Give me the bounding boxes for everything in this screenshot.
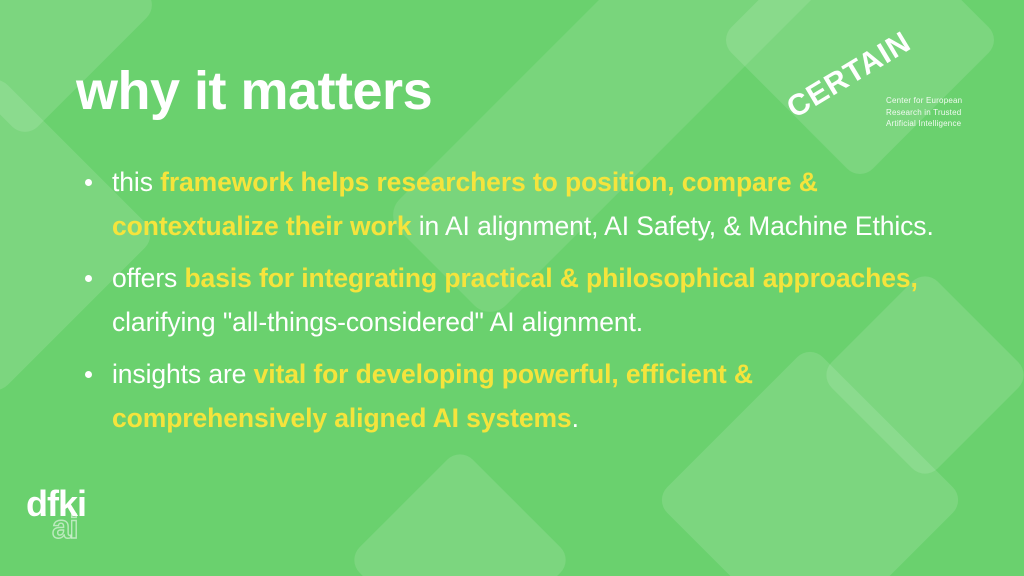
bullet-segment: this	[112, 167, 160, 197]
certain-tagline-line2: Research in Trusted	[886, 107, 962, 119]
certain-tagline-line3: Artificial Intelligence	[886, 118, 962, 130]
list-item: this framework helps researchers to posi…	[76, 160, 966, 248]
list-item: offers basis for integrating practical &…	[76, 256, 966, 344]
bullet-segment: insights are	[112, 359, 254, 389]
background-diamond	[347, 447, 573, 576]
bullet-segment: clarifying "all-things-considered" AI al…	[112, 307, 643, 337]
list-item: insights are vital for developing powerf…	[76, 352, 966, 440]
page-title: why it matters	[76, 62, 432, 121]
bullet-list: this framework helps researchers to posi…	[76, 160, 966, 448]
bullet-dot-icon	[85, 179, 92, 186]
dfki-logo: ai dfki	[26, 486, 116, 554]
bullet-dot-icon	[85, 275, 92, 282]
bullet-dot-icon	[85, 371, 92, 378]
certain-logo: CERTAIN Center for European Research in …	[782, 48, 982, 148]
dfki-logo-main: dfki	[26, 486, 86, 522]
certain-tagline: Center for European Research in Trusted …	[886, 95, 962, 130]
bullet-segment-highlight: basis for integrating practical & philos…	[184, 263, 917, 293]
bullet-segment: .	[572, 403, 579, 433]
bullet-segment: in AI alignment, AI Safety, & Machine Et…	[411, 211, 933, 241]
certain-tagline-line1: Center for European	[886, 95, 962, 107]
slide: why it matters this framework helps rese…	[0, 0, 1024, 576]
bullet-segment: offers	[112, 263, 184, 293]
